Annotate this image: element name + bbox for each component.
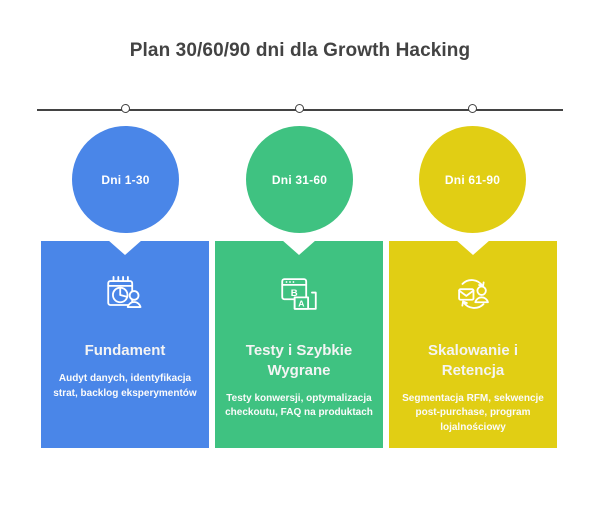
panel-notch-1 [108, 241, 142, 255]
phase-description-2: Testy konwersji, optymalizacja checkoutu… [221, 392, 377, 422]
timeline-node-3 [468, 104, 477, 113]
phase-badge-label-3: Dni 61-90 [445, 173, 500, 187]
phase-heading-2: Testy i Szybkie Wygrane [224, 341, 374, 381]
timeline-node-1 [121, 104, 130, 113]
phase-heading-3: Skalowanie i Retencja [398, 341, 548, 381]
phase-heading-1: Fundament [50, 341, 200, 361]
timeline-node-2 [295, 104, 304, 113]
phase-description-1: Audyt danych, identyfikacja strat, backl… [47, 372, 203, 402]
phase-badge-3: Dni 61-90 [419, 126, 526, 233]
phase-panel-3: Skalowanie i Retencja Segmentacja RFM, s… [389, 241, 557, 448]
phase-badge-label-2: Dni 31-60 [272, 173, 327, 187]
phase-panel-1: Fundament Audyt danych, identyfikacja st… [41, 241, 209, 448]
svg-text:A: A [298, 298, 304, 308]
calendar-pie-chart-person-icon [99, 269, 151, 319]
email-person-refresh-icon [447, 269, 499, 319]
phase-panel-3-body: Skalowanie i Retencja Segmentacja RFM, s… [389, 241, 557, 448]
phase-panel-2-body: B A Testy i Szybkie Wygrane Testy konwer… [215, 241, 383, 448]
infographic-canvas: Plan 30/60/90 dni dla Growth Hacking Dni… [0, 0, 600, 512]
phase-badge-2: Dni 31-60 [246, 126, 353, 233]
panel-notch-3 [456, 241, 490, 255]
page-title: Plan 30/60/90 dni dla Growth Hacking [0, 40, 600, 62]
phase-badge-1: Dni 1-30 [72, 126, 179, 233]
phase-panel-2: B A Testy i Szybkie Wygrane Testy konwer… [215, 241, 383, 448]
phase-badge-label-1: Dni 1-30 [101, 173, 149, 187]
ab-test-windows-icon: B A [273, 269, 325, 319]
phase-description-3: Segmentacja RFM, sekwencje post-purchase… [395, 392, 551, 436]
phase-panel-1-body: Fundament Audyt danych, identyfikacja st… [41, 241, 209, 448]
panel-notch-2 [282, 241, 316, 255]
